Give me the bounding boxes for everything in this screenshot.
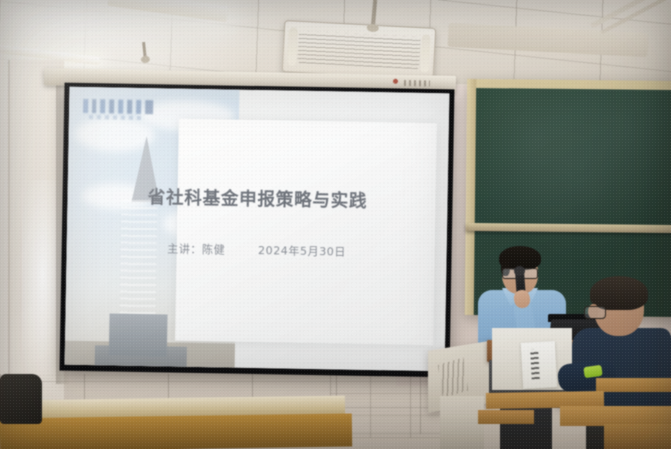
screen-surface: 省社科基金申报策略与实践 主讲：陈健 2024年5月30日 bbox=[65, 87, 450, 372]
tower-base bbox=[109, 313, 168, 356]
student-desk bbox=[596, 378, 671, 392]
slide-text-card bbox=[175, 119, 437, 345]
eyeglasses-icon bbox=[584, 306, 606, 319]
lecture-hall-photo: 省社科基金申报策略与实践 主讲：陈健 2024年5月30日 bbox=[0, 0, 671, 449]
dark-object-on-desk bbox=[0, 374, 42, 424]
paper-sheet bbox=[521, 341, 557, 389]
housing-indicator-icon bbox=[393, 79, 398, 84]
left-wall bbox=[0, 60, 64, 410]
student-desk bbox=[478, 410, 534, 424]
podium-vent-icon bbox=[438, 357, 468, 398]
projection-screen: 省社科基金申报策略与实践 主讲：陈健 2024年5月30日 bbox=[60, 83, 455, 378]
ac-vane-icon bbox=[420, 34, 431, 72]
air-conditioner-unit bbox=[282, 20, 437, 80]
presentation-slide: 省社科基金申报策略与实践 主讲：陈健 2024年5月30日 bbox=[65, 87, 450, 372]
front-desk-body bbox=[0, 414, 352, 449]
attendee-hair bbox=[590, 276, 648, 310]
student-desk bbox=[560, 406, 671, 426]
classroom-scene: 省社科基金申报策略与实践 主讲：陈健 2024年5月30日 bbox=[0, 0, 671, 449]
tower-body bbox=[119, 200, 157, 329]
ac-grille-icon bbox=[297, 31, 421, 69]
university-logo-icon bbox=[83, 99, 153, 114]
housing-label-icon bbox=[404, 80, 430, 86]
student-desk bbox=[604, 424, 671, 449]
